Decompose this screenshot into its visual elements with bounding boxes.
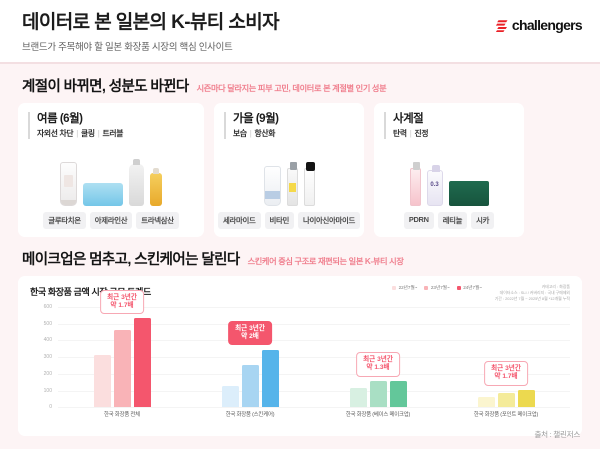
y-tick-label: 0 xyxy=(49,404,52,410)
bar-0-2[interactable] xyxy=(134,318,151,407)
legend-label: 24년7월~ xyxy=(463,285,482,291)
y-tick-label: 400 xyxy=(44,337,52,343)
tag-separator: | xyxy=(98,129,100,138)
chart-source-note: 카테고리 : 화장품데이터소스 : SLI / 커버리지 : 국내 구매제외기간… xyxy=(495,284,570,302)
cica-green-box-image xyxy=(449,181,489,206)
bar-3-0[interactable] xyxy=(478,397,495,407)
market-trend-chart-panel: 한국 화장품 금액 시장 규모 트렌드 22년7월~23년7월~24년7월~ 카… xyxy=(18,276,582,436)
y-axis: 0100200300400500600 xyxy=(30,303,56,407)
growth-badge-1: 최근 3년간약 2배 xyxy=(228,321,272,345)
badge-line-2: 약 1.7배 xyxy=(491,373,521,381)
section-seasonal-ingredients: 계절이 바뀌면, 성분도 바뀐다 시즌마다 달라지는 피부 고민, 데이터로 본… xyxy=(0,64,600,237)
y-tick-label: 300 xyxy=(44,354,52,360)
pdrn-ampoule-image xyxy=(410,168,421,206)
bar-1-2[interactable] xyxy=(262,350,279,408)
bar-1-0[interactable] xyxy=(222,386,239,407)
legend-item-2[interactable]: 24년7월~ xyxy=(457,285,482,291)
plot-area: 최근 3년간약 1.7배최근 3년간약 2배최근 3년간약 1.3배최근 3년간… xyxy=(58,303,570,407)
summer-product-images xyxy=(28,146,194,206)
legend-item-1[interactable]: 23년7월~ xyxy=(424,285,449,291)
section-market-trend: 메이크업은 멈추고, 스킨케어는 달린다 스킨케어 중심 구조로 재편되는 일본… xyxy=(0,237,600,436)
section2-title: 메이크업은 멈추고, 스킨케어는 달린다 xyxy=(22,248,240,269)
niacinamide-serum-dropper-image xyxy=(304,168,315,206)
source-footer: 출처 : 챌린저스 xyxy=(534,429,580,440)
summer-ingredient-chips: 글루타치온 아제라인산 트라넥삼산 xyxy=(28,212,194,229)
ceramide-cream-tube-image xyxy=(264,166,281,206)
all-season-label: 사계절 xyxy=(393,112,514,126)
legend-swatch-icon xyxy=(392,286,396,290)
section1-subtitle: 시즌마다 달라지는 피부 고민, 데이터로 본 계절별 인기 성분 xyxy=(197,82,387,94)
badge-line-1: 최근 3년간 xyxy=(491,365,521,373)
bar-2-0[interactable] xyxy=(350,388,367,407)
season-card-summer: 여름 (6월) 자외선 차단|쿨링|트러블 글루타치온 아제라인산 트라넥삼산 xyxy=(18,103,204,237)
bar-2-1[interactable] xyxy=(370,381,387,407)
vitamin-serum-dropper-image xyxy=(287,168,298,206)
chart-legend: 22년7월~23년7월~24년7월~ xyxy=(392,285,482,291)
y-tick-label: 500 xyxy=(44,321,52,327)
summer-card-head: 여름 (6월) 자외선 차단|쿨링|트러블 xyxy=(28,112,194,139)
amber-oil-bottle-image xyxy=(150,173,162,206)
section2-heading: 메이크업은 멈추고, 스킨케어는 달린다 스킨케어 중심 구조로 재편되는 일본… xyxy=(18,237,582,276)
growth-badge-2: 최근 3년간약 1.3배 xyxy=(356,352,400,376)
legend-label: 22년7월~ xyxy=(399,285,418,291)
bar-2-2[interactable] xyxy=(390,381,407,408)
section2-subtitle: 스킨케어 중심 구조로 재편되는 일본 K-뷰티 시장 xyxy=(248,255,404,267)
fall-ingredient-2: 나이아신아마이드 xyxy=(298,212,360,229)
legend-label: 23년7월~ xyxy=(431,285,450,291)
section1-title: 계절이 바뀌면, 성분도 바뀐다 xyxy=(22,75,189,96)
fall-ingredient-chips: 세라마이드 비타민 나이아신아마이드 xyxy=(224,212,354,229)
summer-tag-list: 자외선 차단|쿨링|트러블 xyxy=(37,128,194,139)
badge-line-2: 약 1.3배 xyxy=(363,364,393,372)
bar-3-1[interactable] xyxy=(498,393,515,407)
bar-0-1[interactable] xyxy=(114,330,131,407)
x-axis-label-0: 한국 화장품 전체 xyxy=(58,407,186,421)
fall-product-images xyxy=(224,146,354,206)
badge-line-1: 최근 3년간 xyxy=(235,325,265,333)
all-season-product-images: 0.3 xyxy=(384,146,514,206)
summer-tag-2: 트러블 xyxy=(102,129,123,138)
note-line: 기간 : 2022년 7월 ~ 2025년 8월 *12개월 누적 xyxy=(495,296,570,302)
y-tick-label: 100 xyxy=(44,388,52,394)
bar-groups: 최근 3년간약 1.7배최근 3년간약 2배최근 3년간약 1.3배최근 3년간… xyxy=(58,303,570,407)
all-season-card-head: 사계절 탄력|진정 xyxy=(384,112,514,139)
season-card-all-season: 사계절 탄력|진정 0.3 PDRN 레티놀 시카 xyxy=(374,103,524,237)
x-axis-labels: 한국 화장품 전체한국 화장품 (스킨케어)한국 화장품 (베이스 메이크업)한… xyxy=(58,407,570,421)
tag-separator: | xyxy=(76,129,78,138)
summer-tag-1: 쿨링 xyxy=(81,129,95,138)
x-axis-label-3: 한국 화장품 (포인트 메이크업) xyxy=(442,407,570,421)
fall-card-head: 가을 (9월) 보습|항산화 xyxy=(224,112,354,139)
season-card-list: 여름 (6월) 자외선 차단|쿨링|트러블 글루타치온 아제라인산 트라넥삼산 xyxy=(18,103,582,237)
fall-season-label: 가을 (9월) xyxy=(233,112,354,126)
fall-tag-0: 보습 xyxy=(233,129,247,138)
summer-tag-0: 자외선 차단 xyxy=(37,129,73,138)
badge-line-1: 최근 3년간 xyxy=(363,356,393,364)
bar-group-0: 최근 3년간약 1.7배 xyxy=(58,303,186,407)
sunscreen-tube-image xyxy=(60,162,77,206)
badge-line-2: 약 2배 xyxy=(235,333,265,341)
retinol-bottle-image: 0.3 xyxy=(427,170,443,206)
chart-plot: 0100200300400500600 최근 3년간약 1.7배최근 3년간약 … xyxy=(30,303,570,421)
legend-swatch-icon xyxy=(457,286,461,290)
fall-ingredient-1: 비타민 xyxy=(265,212,295,229)
bar-group-3: 최근 3년간약 1.7배 xyxy=(442,303,570,407)
logo-text: challengers xyxy=(512,17,582,33)
logo-bars-icon xyxy=(494,18,509,33)
growth-badge-3: 최근 3년간약 1.7배 xyxy=(484,361,528,385)
bar-0-0[interactable] xyxy=(94,355,111,407)
all-season-ingredient-0: PDRN xyxy=(404,212,434,229)
fall-tag-1: 항산화 xyxy=(254,129,275,138)
y-tick-label: 600 xyxy=(44,304,52,310)
summer-ingredient-1: 아제라인산 xyxy=(90,212,133,229)
all-season-tag-list: 탄력|진정 xyxy=(393,128,514,139)
gray-spray-bottle-image xyxy=(129,164,144,206)
season-card-fall: 가을 (9월) 보습|항산화 세라마이드 비타민 나이아신아마이드 xyxy=(214,103,364,237)
badge-line-1: 최근 3년간 xyxy=(107,294,137,302)
x-axis-label-1: 한국 화장품 (스킨케어) xyxy=(186,407,314,421)
page-header: 데이터로 본 일본의 K-뷰티 소비자 브랜드가 주목해야 할 일본 화장품 시… xyxy=(0,0,600,64)
x-axis-label-2: 한국 화장품 (베이스 메이크업) xyxy=(314,407,442,421)
all-season-ingredient-1: 레티놀 xyxy=(438,212,468,229)
cooling-pad-box-image xyxy=(83,183,123,206)
bar-group-2: 최근 3년간약 1.3배 xyxy=(314,303,442,407)
summer-ingredient-2: 트라넥삼산 xyxy=(136,212,179,229)
tag-separator: | xyxy=(410,129,412,138)
all-season-tag-1: 진정 xyxy=(414,129,428,138)
infographic-page: 데이터로 본 일본의 K-뷰티 소비자 브랜드가 주목해야 할 일본 화장품 시… xyxy=(0,0,600,449)
page-subtitle: 브랜드가 주목해야 할 일본 화장품 시장의 핵심 인사이트 xyxy=(22,39,582,53)
bar-group-1: 최근 3년간약 2배 xyxy=(186,303,314,407)
growth-badge-0: 최근 3년간약 1.7배 xyxy=(100,290,144,314)
all-season-ingredient-2: 시카 xyxy=(471,212,494,229)
badge-line-2: 약 1.7배 xyxy=(107,302,137,310)
y-tick-label: 200 xyxy=(44,371,52,377)
legend-swatch-icon xyxy=(424,286,428,290)
tag-separator: | xyxy=(250,129,252,138)
legend-item-0[interactable]: 22년7월~ xyxy=(392,285,417,291)
all-season-tag-0: 탄력 xyxy=(393,129,407,138)
section1-heading: 계절이 바뀌면, 성분도 바뀐다 시즌마다 달라지는 피부 고민, 데이터로 본… xyxy=(18,64,582,103)
summer-ingredient-0: 글루타치온 xyxy=(43,212,86,229)
fall-tag-list: 보습|항산화 xyxy=(233,128,354,139)
fall-ingredient-0: 세라마이드 xyxy=(218,212,261,229)
bar-3-2[interactable] xyxy=(518,390,535,408)
bar-1-1[interactable] xyxy=(242,365,259,407)
summer-season-label: 여름 (6월) xyxy=(37,112,194,126)
all-season-ingredient-chips: PDRN 레티놀 시카 xyxy=(384,212,514,229)
brand-logo: challengers xyxy=(494,17,582,33)
